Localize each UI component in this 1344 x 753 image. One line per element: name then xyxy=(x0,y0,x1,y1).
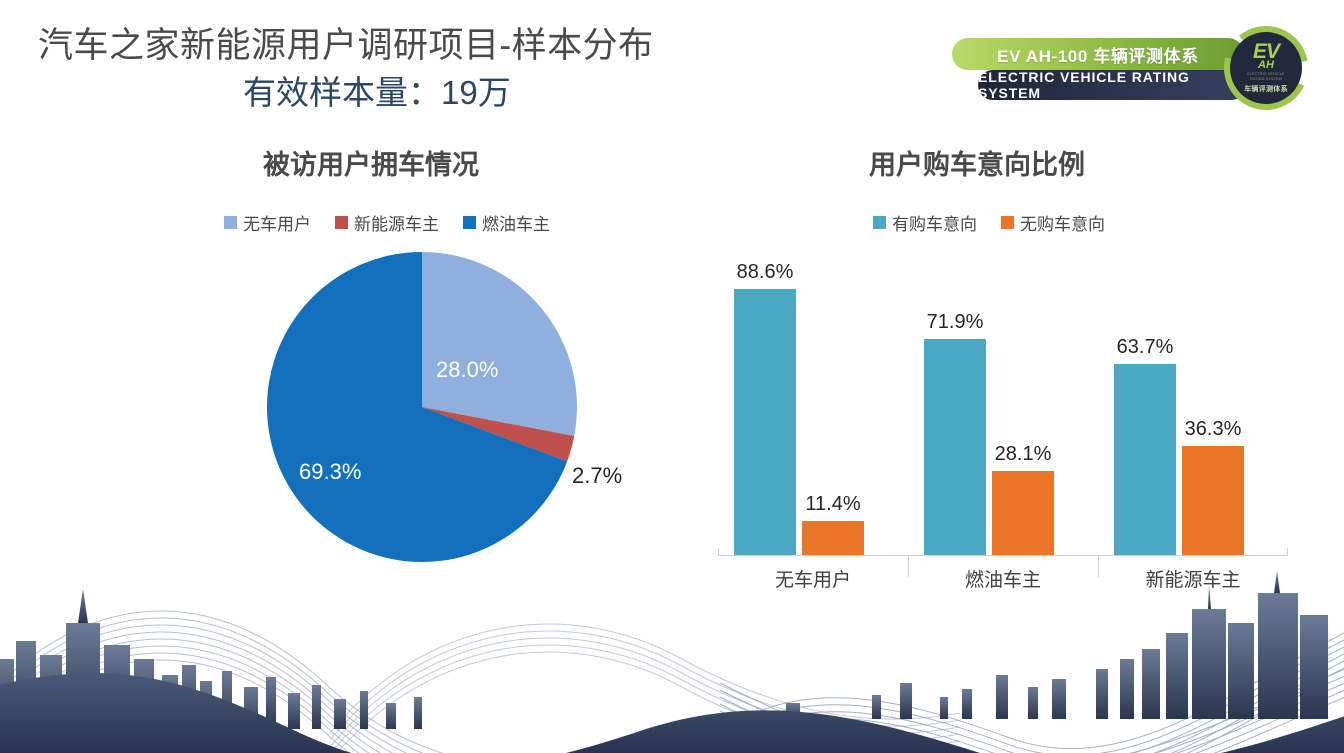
line-wave-left xyxy=(0,611,600,753)
legend-swatch-icon xyxy=(1001,216,1014,229)
bar-value-label: 63.7% xyxy=(1117,336,1174,359)
legend-item-no-intent[interactable]: 无购车意向 xyxy=(1001,210,1105,235)
bar-column[interactable]: 88.6% xyxy=(734,289,796,555)
bar-category-label-no-car: 无车用户 xyxy=(718,565,908,592)
bar-rect[interactable] xyxy=(1114,364,1176,555)
pie-chart-title: 被访用户拥车情况 xyxy=(263,143,479,182)
legend-swatch-icon xyxy=(873,216,886,229)
bar-column[interactable]: 11.4% xyxy=(802,521,864,555)
legend-item-fuel-owner[interactable]: 燃油车主 xyxy=(463,210,550,235)
bar-chart-title: 用户购车意向比例 xyxy=(869,143,1085,182)
logo-green-bar: EV AH-100 车辆评测体系 xyxy=(952,38,1244,70)
pie-slice-label-fuel-owner: 69.3% xyxy=(299,459,361,485)
logo-green-bar-label: EV AH-100 车辆评测体系 xyxy=(997,42,1199,67)
pie-slice-label-no-car: 28.0% xyxy=(436,357,498,383)
axis-edge-tick xyxy=(1287,548,1288,556)
bar-value-label: 11.4% xyxy=(805,493,860,516)
bar-chart-plot-area: 88.6% 11.4% 71.9% 28.1% 63.7% 36.3% xyxy=(718,255,1288,555)
axis-edge-tick xyxy=(718,548,719,556)
legend-item-has-intent[interactable]: 有购车意向 xyxy=(873,210,977,235)
legend-label: 无车用户 xyxy=(243,210,311,235)
badge-cn-text: 车辆评测体系 xyxy=(1244,84,1288,94)
badge-core: EV AH ELECTRIC VEHICLE RATING SYSTEM 车辆评… xyxy=(1230,32,1302,104)
bar-value-label: 28.1% xyxy=(995,443,1052,466)
logo-dark-bar: ELECTRIC VEHICLE RATING SYSTEM xyxy=(978,70,1246,100)
city-skyline xyxy=(0,571,1328,729)
legend-item-no-car[interactable]: 无车用户 xyxy=(224,210,311,235)
bar-category-label-nev-owner: 新能源车主 xyxy=(1098,565,1288,592)
legend-label: 无购车意向 xyxy=(1020,210,1105,235)
bar-category-label-fuel-owner: 燃油车主 xyxy=(908,565,1098,592)
bar-rect[interactable] xyxy=(924,339,986,555)
badge-micro-line2: RATING SYSTEM xyxy=(1250,77,1282,81)
bar-value-label: 36.3% xyxy=(1185,418,1242,441)
bar-group-fuel-owner: 71.9% 28.1% xyxy=(924,255,1084,555)
bar-rect[interactable] xyxy=(992,471,1054,555)
bar-value-label: 88.6% xyxy=(737,261,794,284)
badge-micro-line1: ELECTRIC VEHICLE xyxy=(1247,72,1284,76)
bar-rect[interactable] xyxy=(1182,446,1244,555)
pie-chart-legend: 无车用户 新能源车主 燃油车主 xyxy=(224,210,550,235)
brand-logo: EV AH-100 车辆评测体系 ELECTRIC VEHICLE RATING… xyxy=(952,26,1340,108)
bar-column[interactable]: 63.7% xyxy=(1114,364,1176,555)
logo-badge: EV AH ELECTRIC VEHICLE RATING SYSTEM 车辆评… xyxy=(1224,26,1308,110)
legend-swatch-icon xyxy=(463,216,476,229)
pie-chart xyxy=(267,252,577,562)
legend-label: 新能源车主 xyxy=(354,210,439,235)
bar-column[interactable]: 36.3% xyxy=(1182,446,1244,555)
page-subtitle: 有效样本量：19万 xyxy=(243,72,511,113)
legend-item-nev-owner[interactable]: 新能源车主 xyxy=(335,210,439,235)
bar-column[interactable]: 71.9% xyxy=(924,339,986,555)
badge-ah-text: AH xyxy=(1258,60,1274,71)
bar-group-no-car: 88.6% 11.4% xyxy=(734,255,894,555)
bar-rect[interactable] xyxy=(802,521,864,555)
bar-chart-legend: 有购车意向 无购车意向 xyxy=(873,210,1105,235)
pie-slice[interactable] xyxy=(422,252,577,436)
legend-label: 有购车意向 xyxy=(892,210,977,235)
line-wave-mid xyxy=(330,624,960,753)
line-wave-right xyxy=(700,625,1344,753)
foreground-wave xyxy=(0,673,1344,753)
legend-swatch-icon xyxy=(224,216,237,229)
logo-dark-bar-label: ELECTRIC VEHICLE RATING SYSTEM xyxy=(978,69,1246,101)
bar-group-nev-owner: 63.7% 36.3% xyxy=(1114,255,1274,555)
page-title: 汽车之家新能源用户调研项目-样本分布 xyxy=(38,24,654,68)
legend-label: 燃油车主 xyxy=(482,210,550,235)
bar-chart-axis-line xyxy=(718,555,1288,556)
legend-swatch-icon xyxy=(335,216,348,229)
bar-rect[interactable] xyxy=(734,289,796,555)
pie-slice-label-nev-owner: 2.7% xyxy=(572,463,622,489)
bar-value-label: 71.9% xyxy=(927,311,984,334)
bar-column[interactable]: 28.1% xyxy=(992,471,1054,555)
